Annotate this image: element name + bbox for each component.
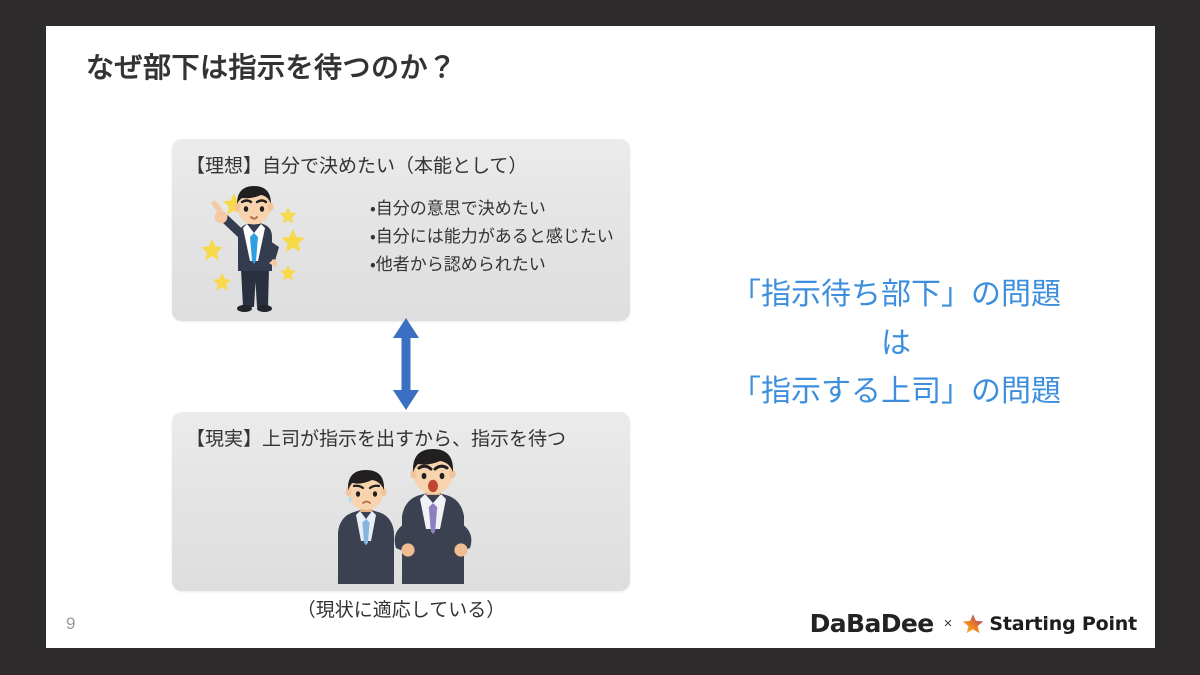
- panel-reality: 【現実】上司が指示を出すから、指示を待つ: [172, 412, 630, 591]
- list-item: ・他者から認められたい: [370, 251, 614, 279]
- logo-separator: ×: [944, 615, 953, 632]
- list-item: ・自分には能力があると感じたい: [370, 223, 614, 251]
- page-title: なぜ部下は指示を待つのか？: [86, 46, 457, 86]
- list-item: ・自分の意思で決めたい: [370, 195, 614, 223]
- footer-logos: DaBaDee × Starting: [810, 609, 1137, 638]
- key-message-line-3: 「指示する上司」の問題: [656, 368, 1136, 417]
- subordinate-figure: [338, 470, 394, 584]
- starting-point-logo: Starting Point: [962, 613, 1137, 635]
- ideal-bullet-list: ・自分の意思で決めたい ・自分には能力があると感じたい ・他者から認められたい: [370, 195, 614, 279]
- starting-point-wordmark: Starting Point: [989, 613, 1137, 635]
- page-number: 9: [66, 614, 75, 634]
- star-icon: [962, 613, 984, 635]
- double-headed-vertical-arrow: [389, 316, 423, 412]
- reality-caption: （現状に適応している）: [172, 595, 630, 622]
- key-message: 「指示待ち部下」の問題 は 「指示する上司」の問題: [656, 271, 1136, 417]
- key-message-line-2: は: [656, 320, 1136, 369]
- confident-businessman-illustration: [190, 181, 318, 313]
- dabadee-logo: DaBaDee: [810, 609, 934, 638]
- panel-ideal: 【理想】自分で決めたい（本能として）: [172, 139, 630, 321]
- boss-scolding-subordinate-illustration: [320, 444, 496, 584]
- key-message-line-1: 「指示待ち部下」の問題: [656, 271, 1136, 320]
- panel-ideal-heading: 【理想】自分で決めたい（本能として）: [186, 151, 527, 178]
- slide-canvas: なぜ部下は指示を待つのか？ 【理想】自分で決めたい（本能として）: [46, 26, 1155, 648]
- slide-viewer: なぜ部下は指示を待つのか？ 【理想】自分で決めたい（本能として）: [0, 0, 1200, 675]
- boss-figure: [395, 449, 472, 584]
